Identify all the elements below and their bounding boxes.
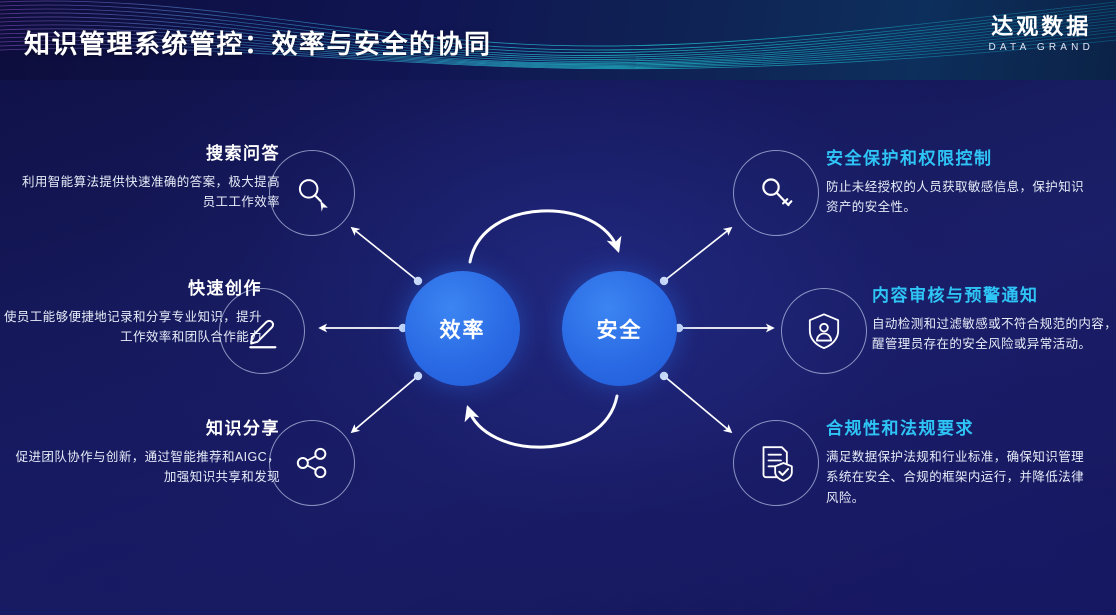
- share-nodes-icon: [292, 443, 332, 483]
- hub-circle-efficiency[interactable]: 效率: [405, 271, 520, 386]
- feature-desc: 防止未经授权的人员获取敏感信息，保护知识资产的安全性。: [826, 177, 1092, 218]
- feature-desc: 利用智能算法提供快速准确的答案，极大提高员工工作效率: [14, 172, 280, 213]
- feature-desc: 自动检测和过滤敏感或不符合规范的内容，提醒管理员存在的安全风险或异常活动。: [872, 314, 1116, 355]
- logo-text-en: DATA GRAND: [988, 42, 1094, 53]
- feature-block-compliance: 合规性和法规要求 满足数据保护法规和行业标准，确保知识管理系统在安全、合规的框架…: [826, 418, 1092, 508]
- brand-logo: 达观数据 DATA GRAND: [988, 14, 1094, 53]
- feature-title: 搜索问答: [14, 143, 280, 165]
- hub-label-efficiency: 效率: [440, 314, 486, 344]
- feature-block-content-review: 内容审核与预警通知 自动检测和过滤敏感或不符合规范的内容，提醒管理员存在的安全风…: [872, 285, 1116, 355]
- search-icon: [292, 173, 332, 213]
- feature-desc: 满足数据保护法规和行业标准，确保知识管理系统在安全、合规的框架内运行，并降低法律…: [826, 447, 1092, 508]
- feature-title: 安全保护和权限控制: [826, 148, 1092, 170]
- icon-node-search[interactable]: [269, 150, 355, 236]
- feature-desc: 促进团队协作与创新，通过智能推荐和AIGC，加强知识共享和发现: [14, 447, 280, 488]
- slide-header: 知识管理系统管控：效率与安全的协同 达观数据 DATA GRAND: [0, 0, 1116, 80]
- feature-block-search: 搜索问答 利用智能算法提供快速准确的答案，极大提高员工工作效率: [14, 143, 280, 213]
- feature-desc: 使员工能够便捷地记录和分享专业知识，提升工作效率和团队合作能力: [0, 307, 262, 348]
- shield-person-icon: [804, 311, 844, 351]
- feature-block-share: 知识分享 促进团队协作与创新，通过智能推荐和AIGC，加强知识共享和发现: [14, 418, 280, 488]
- feature-title: 快速创作: [0, 278, 262, 300]
- key-icon: [756, 173, 796, 213]
- feature-title: 合规性和法规要求: [826, 418, 1092, 440]
- icon-node-content-review[interactable]: [781, 288, 867, 374]
- feature-block-create: 快速创作 使员工能够便捷地记录和分享专业知识，提升工作效率和团队合作能力: [0, 278, 262, 348]
- logo-text-cn: 达观数据: [988, 14, 1094, 39]
- slide-canvas: 知识管理系统管控：效率与安全的协同 达观数据 DATA GRAND: [0, 0, 1116, 615]
- icon-node-compliance[interactable]: [733, 420, 819, 506]
- feature-title: 内容审核与预警通知: [872, 285, 1116, 307]
- feature-block-access-control: 安全保护和权限控制 防止未经授权的人员获取敏感信息，保护知识资产的安全性。: [826, 148, 1092, 218]
- hub-label-security: 安全: [597, 314, 643, 344]
- icon-node-key[interactable]: [733, 150, 819, 236]
- page-title: 知识管理系统管控：效率与安全的协同: [24, 24, 492, 61]
- icon-node-share[interactable]: [269, 420, 355, 506]
- feature-title: 知识分享: [14, 418, 280, 440]
- document-shield-check-icon: [756, 443, 796, 483]
- hub-circle-security[interactable]: 安全: [562, 271, 677, 386]
